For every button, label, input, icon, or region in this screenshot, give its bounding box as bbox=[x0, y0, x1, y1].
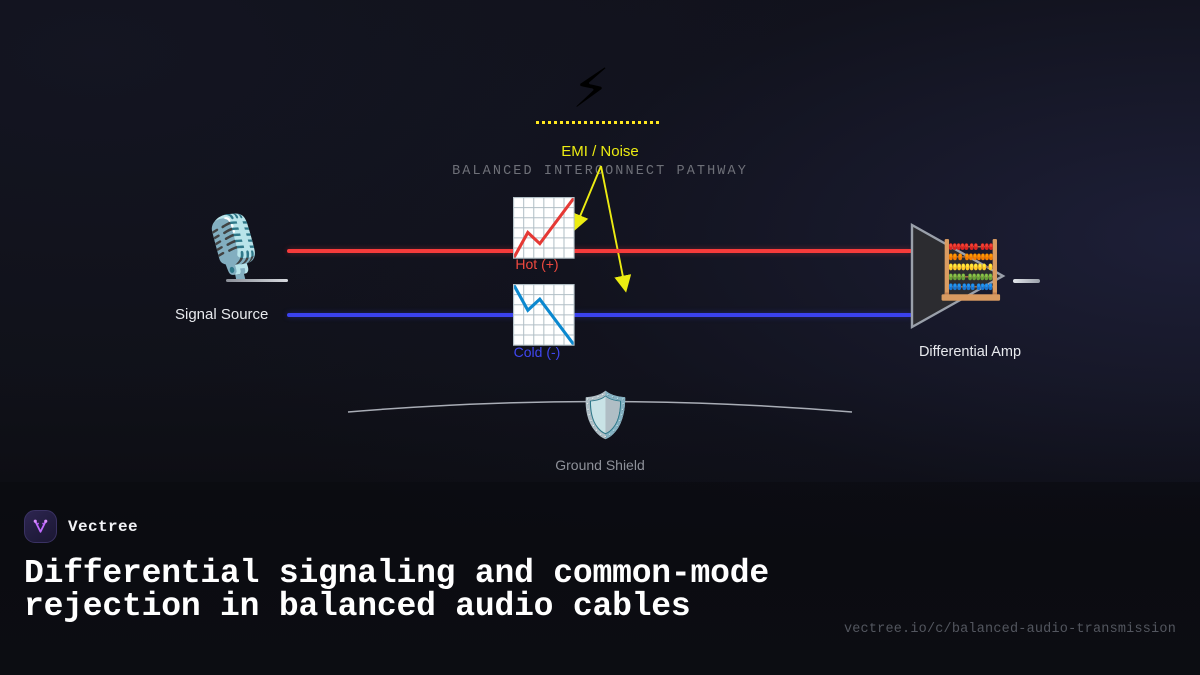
brand-row: Vectree bbox=[24, 510, 1176, 543]
cold-conductor-line bbox=[287, 313, 912, 317]
abacus-icon: 🧮 bbox=[936, 243, 1006, 299]
studio-microphone-icon: 🎙️ bbox=[196, 217, 271, 277]
emi-arrow-hot bbox=[576, 166, 601, 226]
hot-conductor-line bbox=[287, 249, 912, 253]
poster-canvas: ⚡ EMI / Noise BALANCED INTERCONNECT PATH… bbox=[0, 0, 1200, 675]
source-url: vectree.io/c/balanced-audio-transmission bbox=[844, 622, 1176, 637]
vectree-logo-glyph bbox=[30, 516, 51, 537]
chart-increasing-icon: 📈 bbox=[509, 201, 579, 257]
caption-block: Vectree Differential signaling and commo… bbox=[24, 510, 1176, 623]
diagram-stage: ⚡ EMI / Noise BALANCED INTERCONNECT PATH… bbox=[0, 0, 1200, 485]
ground-shield-label: Ground Shield bbox=[520, 457, 680, 473]
page-title: Differential signaling and common-mode r… bbox=[24, 557, 794, 623]
source-lead-line bbox=[226, 279, 288, 282]
brand-name: Vectree bbox=[68, 518, 138, 536]
vectree-logo-icon bbox=[24, 510, 57, 543]
signal-source-label: Signal Source bbox=[175, 306, 268, 323]
emi-arrow-cold bbox=[601, 166, 625, 287]
chart-decreasing-icon: 📉 bbox=[509, 288, 579, 344]
differential-amp-label: Differential Amp bbox=[900, 344, 1040, 360]
shield-icon: 🛡️ bbox=[578, 394, 633, 438]
amp-output-line bbox=[1013, 279, 1040, 283]
